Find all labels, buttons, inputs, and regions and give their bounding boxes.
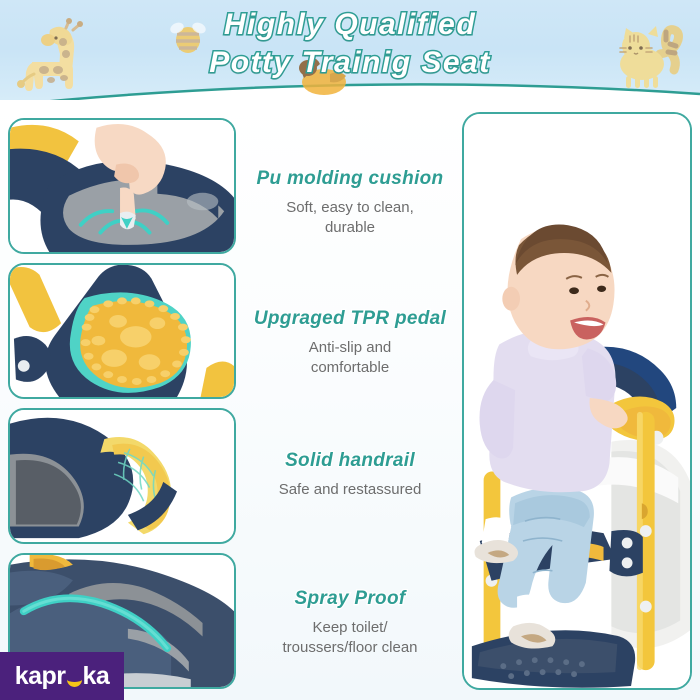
feature-text-spray-proof: Spray Proof Keep toilet/troussers/floor …	[244, 588, 456, 659]
infographic-page: Highly Qualified Potty Trainig Seat	[0, 0, 700, 700]
title-line-1: Highly Qualified	[0, 6, 700, 44]
feature-title: Solid handrail	[244, 450, 456, 473]
header-banner: Highly Qualified Potty Trainig Seat	[0, 0, 700, 108]
feature-desc: Keep toilet/troussers/floor clean	[244, 618, 456, 659]
logo-text: kapr ka	[15, 664, 110, 689]
feature-photo-pedal	[8, 263, 236, 399]
title-line-2: Potty Trainig Seat	[0, 44, 700, 82]
feature-text-handrail: Solid handrail Safe and restassured	[244, 450, 456, 500]
feature-text-cushion: Pu molding cushion Soft, easy to clean,d…	[244, 168, 456, 239]
logo-text-before: kapr	[15, 664, 66, 689]
feature-desc: Anti-slip andcomfortable	[244, 338, 456, 379]
feature-photo-cushion	[8, 118, 236, 254]
feature-title: Upgraged TPR pedal	[244, 308, 456, 331]
feature-title: Pu molding cushion	[244, 168, 456, 191]
feature-text-pedal: Upgraged TPR pedal Anti-slip andcomforta…	[244, 308, 456, 379]
feature-title: Spray Proof	[244, 588, 456, 611]
feature-desc: Soft, easy to clean,durable	[244, 198, 456, 239]
hero-photo-toddler	[462, 112, 692, 690]
logo-smile-icon	[67, 672, 82, 687]
feature-desc: Safe and restassured	[244, 480, 456, 501]
page-title: Highly Qualified Potty Trainig Seat	[0, 6, 700, 83]
logo-text-after: ka	[83, 664, 110, 689]
feature-photo-handrail	[8, 408, 236, 544]
kapruka-logo[interactable]: kapr ka	[0, 652, 124, 700]
